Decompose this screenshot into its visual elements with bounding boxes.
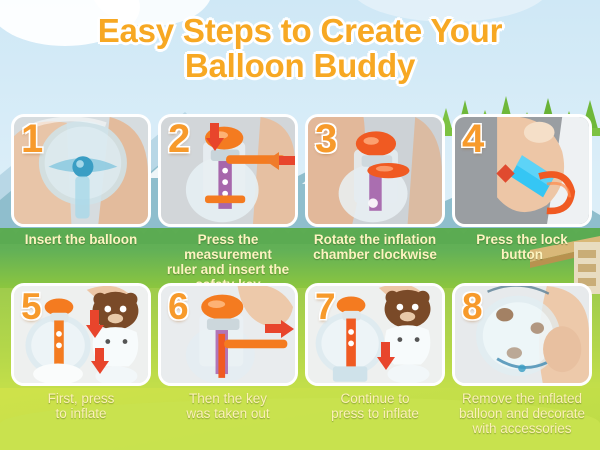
step-card-4[interactable]: 4 Press the lock button — [452, 114, 592, 292]
step-caption-7: Continue to press to inflate — [305, 391, 445, 421]
caption-line: press to inflate — [307, 406, 443, 421]
caption-line: was taken out — [160, 406, 296, 421]
step-caption-1: Insert the balloon — [11, 232, 151, 247]
caption-line: Continue to — [307, 391, 443, 406]
step-card-5[interactable]: 5 First, press to inflate — [11, 283, 151, 436]
step-card-8[interactable]: 8 Remove the inflated balloon and decora… — [452, 283, 592, 436]
step-caption-4: Press the lock button — [452, 232, 592, 262]
caption-line: chamber clockwise — [307, 247, 443, 262]
title-line-2: Balloon Buddy — [0, 49, 600, 84]
poster-title: Easy Steps to Create Your Balloon Buddy — [0, 14, 600, 84]
step-image-5: 5 — [11, 283, 151, 386]
arrow-down-stem — [381, 342, 390, 358]
step-card-2[interactable]: 2 Press the measurement ruler and insert… — [158, 114, 298, 292]
step-card-6[interactable]: 6 Then the key was taken out — [158, 283, 298, 436]
arrow-down-stem — [210, 123, 219, 139]
steps-row-top: 1 Insert the balloon — [11, 114, 593, 292]
infographic-poster: Easy Steps to Create Your Balloon Buddy — [0, 0, 600, 450]
caption-line: Rotate the inflation — [307, 232, 443, 247]
step-caption-8: Remove the inflated balloon and decorate… — [452, 391, 592, 436]
arrow-right-stem — [265, 324, 281, 333]
caption-line: Insert the balloon — [13, 232, 149, 247]
arrow-down-stem — [90, 310, 99, 326]
step-number-1: 1 — [21, 119, 43, 159]
title-line-1: Easy Steps to Create Your — [0, 14, 600, 49]
caption-line: Press the lock button — [454, 232, 590, 262]
step-card-1[interactable]: 1 Insert the balloon — [11, 114, 151, 292]
arrow-left-icon — [266, 152, 279, 170]
step-number-4: 4 — [462, 119, 484, 159]
caption-line: ruler and insert the — [160, 262, 296, 277]
caption-line: First, press — [13, 391, 149, 406]
step-image-7: 7 — [305, 283, 445, 386]
step-image-2: 2 — [158, 114, 298, 227]
caption-line: balloon and decorate — [454, 406, 590, 421]
steps-row-bottom: 5 First, press to inflate — [11, 283, 593, 436]
caption-line: Remove the inflated — [454, 391, 590, 406]
step-card-7[interactable]: 7 Continue to press to inflate — [305, 283, 445, 436]
caption-line: to inflate — [13, 406, 149, 421]
step-caption-6: Then the key was taken out — [158, 391, 298, 421]
caption-line: Then the key — [160, 391, 296, 406]
step-image-1: 1 — [11, 114, 151, 227]
step-image-4: 4 — [452, 114, 592, 227]
caption-line: Press the measurement — [160, 232, 296, 262]
arrow-left-stem — [279, 156, 295, 165]
step-number-7: 7 — [315, 288, 336, 325]
step-number-2: 2 — [168, 119, 190, 159]
step-image-6: 6 — [158, 283, 298, 386]
arrow-right-icon — [281, 320, 294, 338]
arrow-down-icon — [206, 138, 224, 151]
step-number-8: 8 — [462, 288, 483, 325]
step-number-5: 5 — [21, 288, 42, 325]
arrow-down-icon — [377, 357, 395, 370]
step-image-8: 8 — [452, 283, 592, 386]
arrow-down-icon — [91, 361, 109, 374]
arrow-down-stem — [95, 348, 104, 362]
step-number-6: 6 — [168, 288, 189, 325]
step-number-3: 3 — [315, 119, 337, 159]
arrow-down-icon — [86, 325, 104, 338]
step-card-3[interactable]: 3 Rotate the inflation chamber clockwise — [305, 114, 445, 292]
step-caption-5: First, press to inflate — [11, 391, 151, 421]
step-image-3: 3 — [305, 114, 445, 227]
caption-line: with accessories — [454, 421, 590, 436]
step-caption-3: Rotate the inflation chamber clockwise — [305, 232, 445, 262]
